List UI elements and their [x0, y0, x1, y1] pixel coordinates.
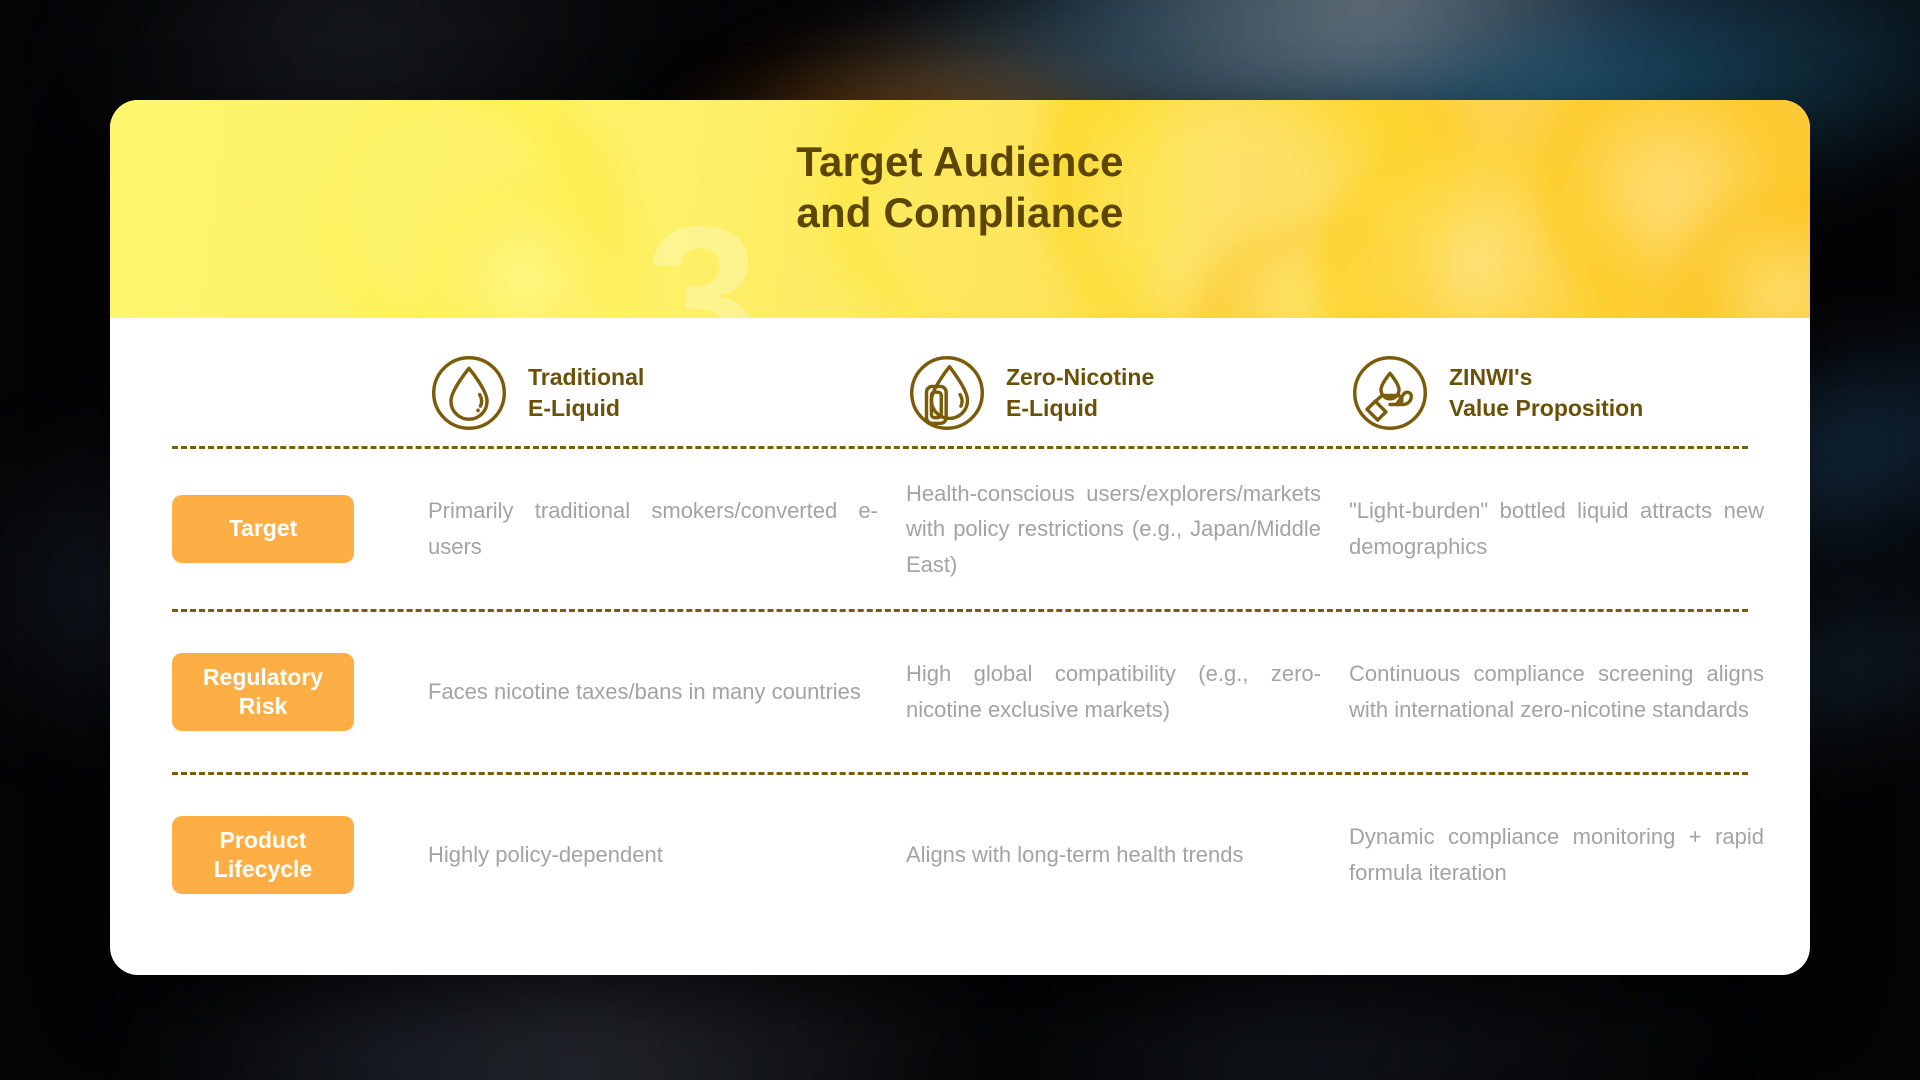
- column-header-label: ZINWI's Value Proposition: [1449, 362, 1643, 423]
- column-header-label-line-2: E-Liquid: [1006, 393, 1154, 424]
- page-title: Target Audience and Compliance: [110, 136, 1810, 238]
- row-label-line-1: Product: [214, 826, 312, 855]
- row-label-line-2: Lifecycle: [214, 855, 312, 884]
- droplet-bottle-circle-icon: [906, 352, 988, 434]
- card-body: Traditional E-Liquid Zero-Nicotine: [110, 318, 1810, 975]
- column-header-label: Zero-Nicotine E-Liquid: [1006, 362, 1154, 423]
- column-header-zero-nicotine-e-liquid: Zero-Nicotine E-Liquid: [906, 352, 1321, 434]
- row-label-badge: Product Lifecycle: [172, 816, 354, 895]
- page-title-line-1: Target Audience: [110, 136, 1810, 187]
- content-card: 3 Target Audience and Compliance: [110, 100, 1810, 975]
- column-header-label-line-2: Value Proposition: [1449, 393, 1643, 424]
- droplet-circle-icon: [428, 352, 510, 434]
- table-cell: Highly policy-dependent: [428, 837, 878, 873]
- column-header-label-line-1: Traditional: [528, 362, 644, 393]
- page-title-line-2: and Compliance: [110, 187, 1810, 238]
- column-header-traditional-e-liquid: Traditional E-Liquid: [428, 352, 878, 434]
- table-cell: "Light-burden" bottled liquid at­tracts …: [1349, 493, 1764, 564]
- row-label-badge: Regulatory Risk: [172, 653, 354, 732]
- table-cell: Aligns with long-term health trends: [906, 837, 1321, 873]
- card-header: 3 Target Audience and Compliance: [110, 100, 1810, 318]
- column-header-label-line-1: Zero-Nicotine: [1006, 362, 1154, 393]
- table-cell: Dynamic compliance monitoring + rapid fo…: [1349, 819, 1764, 890]
- column-header-row: Traditional E-Liquid Zero-Nicotine: [172, 318, 1748, 446]
- row-label-line-2: Risk: [203, 692, 323, 721]
- table-cell: Faces nicotine taxes/bans in many countr…: [428, 674, 878, 710]
- row-label-badge: Target: [172, 495, 354, 563]
- table-row: Regulatory Risk Faces nicotine taxes/ban…: [172, 612, 1748, 772]
- table-cell: High global compatibility (e.g., ze­ro-n…: [906, 656, 1321, 727]
- column-header-label-line-1: ZINWI's: [1449, 362, 1643, 393]
- column-header-label: Traditional E-Liquid: [528, 362, 644, 423]
- hand-droplet-circle-icon: [1349, 352, 1431, 434]
- row-label-line-1: Target: [229, 514, 298, 543]
- table-row: Product Lifecycle Highly policy-dependen…: [172, 775, 1748, 935]
- table-cell: Continuous compliance screening aligns w…: [1349, 656, 1764, 727]
- row-label-line-1: Regulatory: [203, 663, 323, 692]
- column-header-label-line-2: E-Liquid: [528, 393, 644, 424]
- table-cell: Primarily traditional smokers/con­verted…: [428, 493, 878, 564]
- column-header-zinwi-value-proposition: ZINWI's Value Proposition: [1349, 352, 1764, 434]
- table-cell: Health-conscious users/explorers/markets…: [906, 476, 1321, 583]
- table-row: Target Primarily traditional smokers/con…: [172, 449, 1748, 609]
